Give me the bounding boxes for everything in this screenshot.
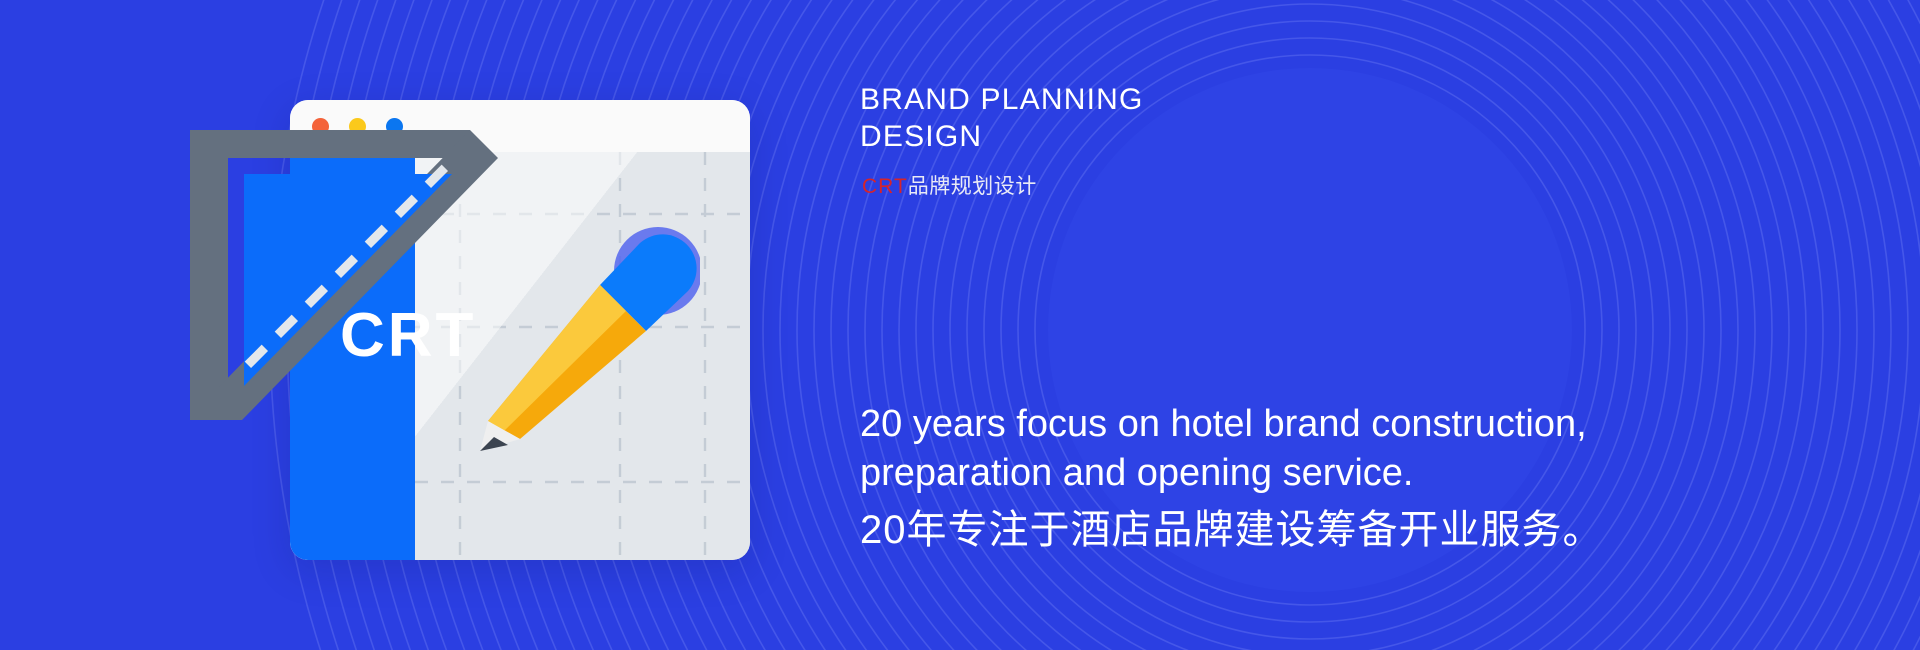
hero-illustration: CRT [0, 0, 820, 650]
eyebrow-brand-accent: CRT [862, 175, 908, 198]
pencil-icon [450, 225, 700, 455]
copy-block: BRAND PLANNING DESIGN CRT品牌规划设计 20 years… [860, 0, 1920, 650]
headline-en-line-2: preparation and opening service. [860, 449, 1700, 498]
eyebrow-subtitle-cn-rest: 品牌规划设计 [908, 175, 1037, 198]
headline-en-line-1: 20 years focus on hotel brand constructi… [860, 400, 1700, 449]
eyebrow-line-2: DESIGN [860, 119, 1480, 156]
headline-en: 20 years focus on hotel brand constructi… [860, 400, 1700, 497]
eyebrow-subtitle-cn: CRT品牌规划设计 [862, 170, 1037, 200]
eyebrow-heading: BRAND PLANNING DESIGN [860, 82, 1480, 155]
eyebrow-line-1: BRAND PLANNING [860, 82, 1480, 119]
headline-cn: 20年专注于酒店品牌建设筹备开业服务。 [860, 505, 1700, 555]
brand-planning-banner: CRT [0, 0, 1920, 650]
